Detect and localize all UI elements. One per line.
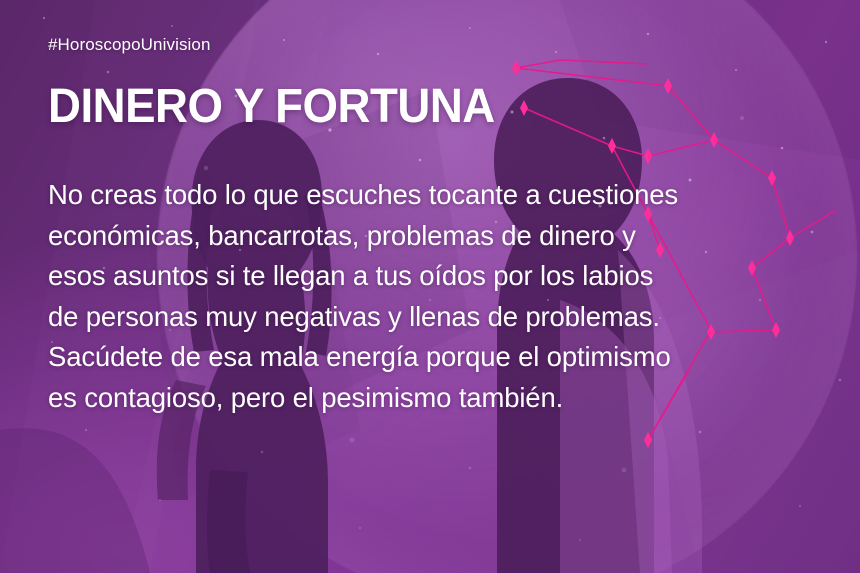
page-title: DINERO Y FORTUNA — [48, 53, 781, 131]
horoscope-body: No creas todo lo que escuches tocante a … — [48, 131, 820, 418]
body-line: esos asuntos si te llegan a tus oídos po… — [48, 256, 820, 297]
body-line: de personas muy negativas y llenas de pr… — [48, 297, 820, 338]
body-line: económicas, bancarrotas, problemas de di… — [48, 216, 820, 257]
horoscope-card: #HoroscopoUnivision DINERO Y FORTUNA No … — [0, 0, 860, 573]
content-area: #HoroscopoUnivision DINERO Y FORTUNA No … — [0, 0, 860, 573]
body-line: No creas todo lo que escuches tocante a … — [48, 175, 820, 216]
hashtag-label: #HoroscopoUnivision — [48, 30, 820, 53]
body-line: Sacúdete de esa mala energía porque el o… — [48, 337, 820, 378]
body-line: es contagioso, pero el pesimismo también… — [48, 378, 820, 419]
